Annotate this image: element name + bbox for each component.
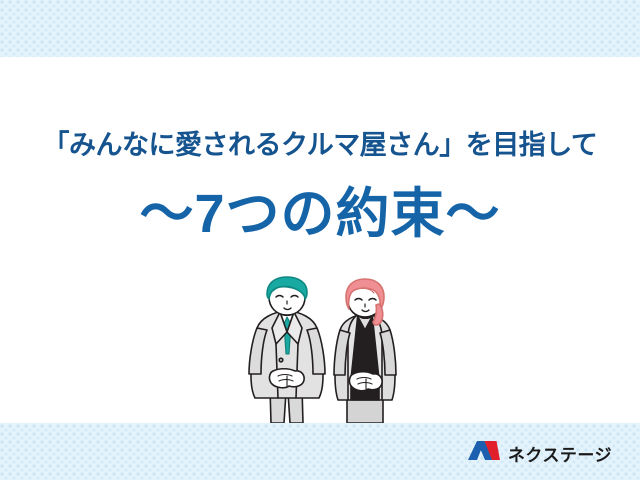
- brand-logo: ネクステージ: [467, 440, 612, 466]
- brand-name: ネクステージ: [508, 441, 612, 466]
- page-title: 「みんなに愛されるクルマ屋さん」を目指して: [0, 128, 640, 162]
- staff-illustration: [243, 276, 413, 423]
- promotional-banner: 「みんなに愛されるクルマ屋さん」を目指して 〜7つの約束〜: [0, 0, 640, 480]
- woman-figure: [334, 279, 396, 423]
- page-subtitle: 〜7つの約束〜: [0, 183, 640, 245]
- nextage-n-mark-icon: [467, 440, 501, 466]
- man-figure: [249, 277, 325, 423]
